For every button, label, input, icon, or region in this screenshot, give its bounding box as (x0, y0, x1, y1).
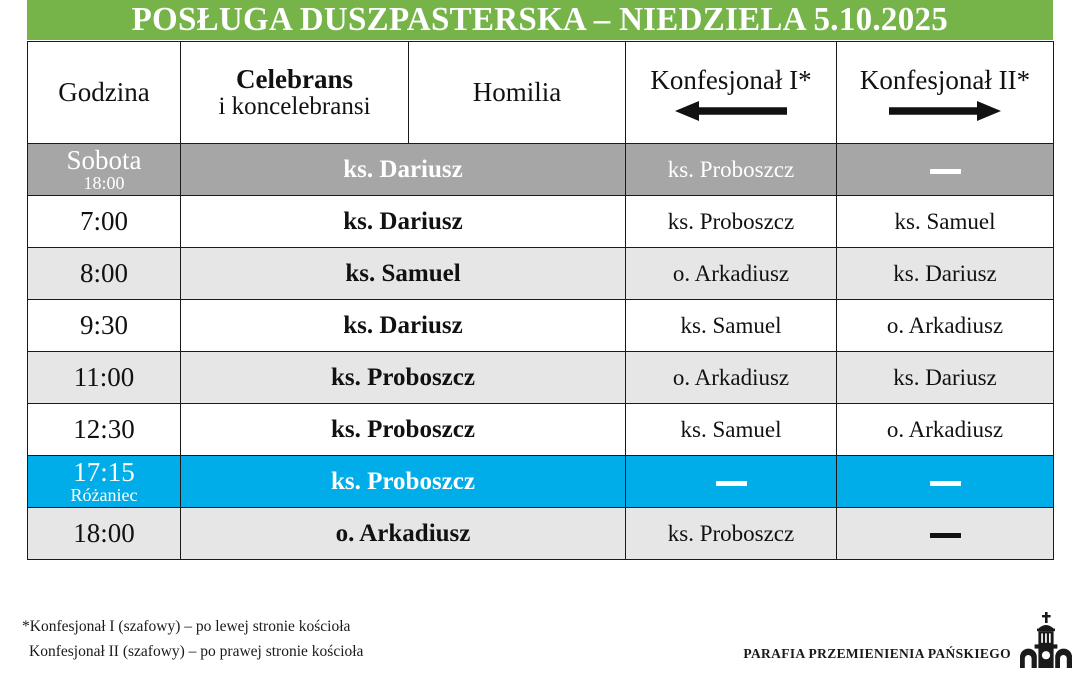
cell-konfesjonal-1: ks. Proboszcz (626, 196, 837, 248)
cell-konfesjonal-1: ks. Proboszcz (626, 508, 837, 560)
time-subtitle: Różaniec (28, 486, 180, 505)
table-row: 9:30ks. Dariuszks. Samuelo. Arkadiusz (28, 300, 1054, 352)
cell-konfesjonal-2 (837, 456, 1054, 508)
parish-name: PARAFIA PRZEMIENIENIA PAŃSKIEGO (743, 646, 1011, 668)
time-value: Sobota (66, 145, 141, 175)
column-header-celebrans-sub: i koncelebransi (218, 94, 370, 121)
dash-icon (930, 169, 961, 174)
table-row: 7:00ks. Dariuszks. Proboszczks. Samuel (28, 196, 1054, 248)
arrow-left-icon (675, 101, 787, 121)
cell-konfesjonal-2: ks. Dariusz (837, 352, 1054, 404)
footnote-line-1: *Konfesjonał I (szafowy) – po lewej stro… (22, 614, 363, 639)
table-row: 18:00o. Arkadiuszks. Proboszcz (28, 508, 1054, 560)
time-value: 11:00 (74, 362, 135, 392)
column-header-konfesjonal-2: Konfesjonał II* (837, 42, 1054, 144)
cell-time: 11:00 (28, 352, 181, 404)
cell-celebrant: ks. Dariusz (181, 144, 626, 196)
cell-konfesjonal-1 (626, 456, 837, 508)
cell-celebrant: ks. Proboszcz (181, 352, 626, 404)
dash-icon (930, 533, 961, 538)
cell-konfesjonal-1: o. Arkadiusz (626, 248, 837, 300)
time-value: 12:30 (73, 414, 135, 444)
table-row: 8:00ks. Samuelo. Arkadiuszks. Dariusz (28, 248, 1054, 300)
cell-konfesjonal-1: o. Arkadiusz (626, 352, 837, 404)
table-row: 11:00ks. Proboszczo. Arkadiuszks. Darius… (28, 352, 1054, 404)
time-value: 17:15 (73, 457, 135, 487)
cell-konfesjonal-2: ks. Dariusz (837, 248, 1054, 300)
cell-time: 8:00 (28, 248, 181, 300)
cell-celebrant: ks. Samuel (181, 248, 626, 300)
cell-konfesjonal-2 (837, 144, 1054, 196)
column-header-konfesjonal-2-label: Konfesjonał II* (860, 65, 1030, 96)
table-header-row: Godzina Celebrans i koncelebransi Homili… (28, 42, 1054, 144)
cell-konfesjonal-2 (837, 508, 1054, 560)
schedule-poster: POSŁUGA DUSZPASTERSKA – NIEDZIELA 5.10.2… (0, 0, 1080, 675)
time-value: 7:00 (80, 206, 128, 236)
parish-signature: PARAFIA PRZEMIENIENIA PAŃSKIEGO (743, 612, 1072, 668)
table-row: 17:15Różaniecks. Proboszcz (28, 456, 1054, 508)
column-header-konfesjonal-1-label: Konfesjonał I* (650, 65, 811, 96)
cell-konfesjonal-2: o. Arkadiusz (837, 404, 1054, 456)
footnote-line-2: Konfesjonał II (szafowy) – po prawej str… (22, 639, 363, 664)
time-value: 9:30 (80, 310, 128, 340)
cell-time: 7:00 (28, 196, 181, 248)
cell-time: 9:30 (28, 300, 181, 352)
cell-celebrant: ks. Dariusz (181, 300, 626, 352)
time-subtitle: 18:00 (28, 174, 180, 193)
time-value: 8:00 (80, 258, 128, 288)
cell-celebrant: ks. Proboszcz (181, 456, 626, 508)
table-row: Sobota18:00ks. Dariuszks. Proboszcz (28, 144, 1054, 196)
dash-icon (930, 481, 961, 486)
column-header-homilia: Homilia (409, 42, 626, 144)
cell-time: 17:15Różaniec (28, 456, 181, 508)
mass-schedule-table: Godzina Celebrans i koncelebransi Homili… (27, 41, 1054, 560)
cell-celebrant: ks. Proboszcz (181, 404, 626, 456)
cell-konfesjonal-2: ks. Samuel (837, 196, 1054, 248)
time-value: 18:00 (73, 518, 135, 548)
column-header-godzina: Godzina (28, 42, 181, 144)
cell-time: 12:30 (28, 404, 181, 456)
cell-time: 18:00 (28, 508, 181, 560)
church-icon (1020, 612, 1072, 668)
cell-konfesjonal-1: ks. Proboszcz (626, 144, 837, 196)
table-body: Sobota18:00ks. Dariuszks. Proboszcz7:00k… (28, 144, 1054, 560)
cell-konfesjonal-1: ks. Samuel (626, 300, 837, 352)
cell-time: Sobota18:00 (28, 144, 181, 196)
column-header-celebrans-main: Celebrans (236, 65, 353, 94)
footnotes: *Konfesjonał I (szafowy) – po lewej stro… (22, 614, 363, 664)
cell-konfesjonal-2: o. Arkadiusz (837, 300, 1054, 352)
arrow-right-icon (889, 101, 1001, 121)
cell-celebrant: ks. Dariusz (181, 196, 626, 248)
column-header-celebrans: Celebrans i koncelebransi (181, 42, 409, 144)
table-row: 12:30ks. Proboszczks. Samuelo. Arkadiusz (28, 404, 1054, 456)
dash-icon (716, 481, 747, 486)
column-header-konfesjonal-1: Konfesjonał I* (626, 42, 837, 144)
cell-celebrant: o. Arkadiusz (181, 508, 626, 560)
poster-title-banner: POSŁUGA DUSZPASTERSKA – NIEDZIELA 5.10.2… (27, 0, 1053, 40)
page-title: POSŁUGA DUSZPASTERSKA – NIEDZIELA 5.10.2… (132, 1, 948, 39)
cell-konfesjonal-1: ks. Samuel (626, 404, 837, 456)
